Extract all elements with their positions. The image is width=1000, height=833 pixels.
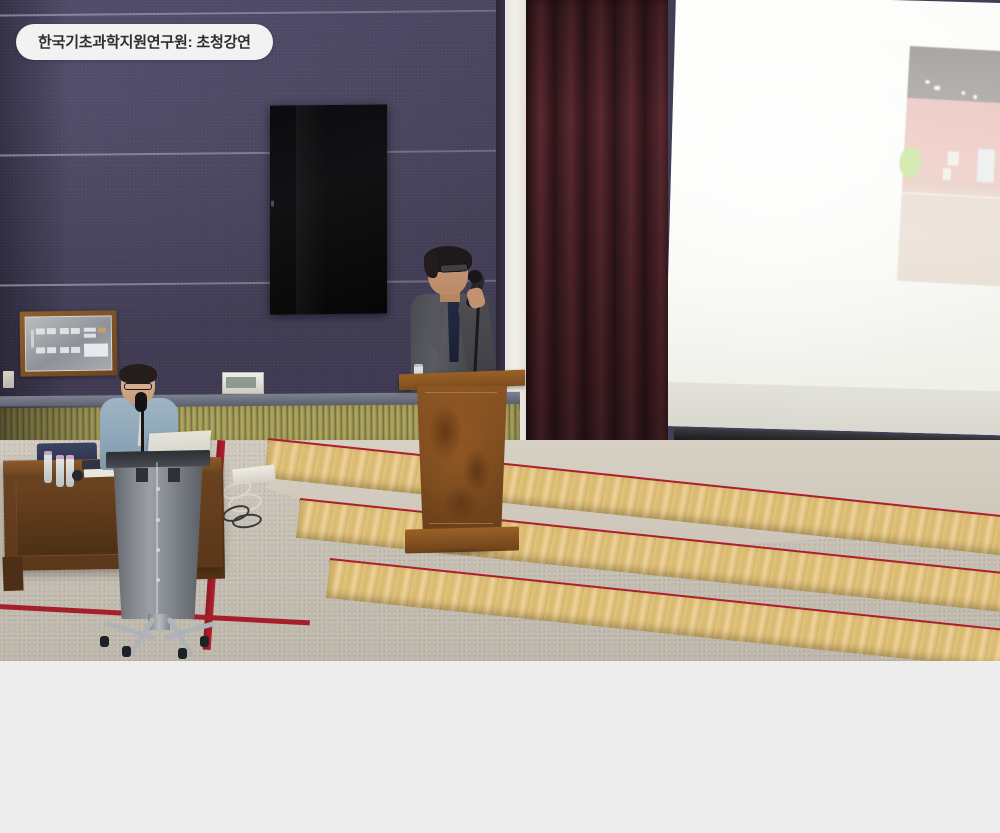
page-blank-area	[0, 661, 1000, 833]
slide-ceiling-light	[973, 94, 977, 99]
moderator-glasses	[124, 383, 152, 390]
mobile-lectern-top	[106, 450, 210, 468]
stage-curtain	[526, 0, 668, 460]
panel-switch	[84, 328, 96, 332]
screen-lower-band	[668, 382, 1000, 435]
wood-framed-control-panel	[20, 310, 118, 376]
wall-light-switch	[3, 371, 14, 388]
gooseneck-microphone-head	[135, 392, 147, 412]
mobile-lectern-stud	[156, 487, 160, 491]
lectern-caster-wheel	[200, 636, 209, 647]
water-bottle	[44, 451, 52, 483]
panel-switch	[60, 347, 69, 353]
panel-switch	[47, 328, 56, 334]
panel-display-window	[84, 343, 108, 356]
page-root: 한국기초과학지원연구원: 초청강연	[0, 0, 1000, 833]
lectern-caster-wheel	[100, 636, 109, 647]
mobile-lectern-stud	[156, 518, 160, 522]
slide-ceiling-light	[925, 80, 930, 84]
panel-switch	[47, 347, 56, 353]
slide-artwork	[977, 149, 996, 183]
mobile-lectern-seam	[156, 462, 158, 618]
caption-badge[interactable]: 한국기초과학지원연구원: 초청강연	[16, 24, 273, 60]
panel-switch	[71, 347, 80, 353]
slide-green-shape	[899, 147, 921, 179]
head-table-leg	[2, 556, 23, 591]
caption-badge-label: 한국기초과학지원연구원: 초청강연	[38, 35, 251, 50]
projection-screen	[668, 0, 1000, 435]
presenter-hair-side	[424, 252, 438, 278]
presenter-glasses	[440, 263, 468, 272]
podium-burl-panel	[421, 392, 501, 524]
panel-indicator	[98, 327, 106, 332]
lecture-photo: 한국기초과학지원연구원: 초청강연	[0, 0, 1000, 661]
slide-artwork	[942, 168, 951, 180]
panel-switch	[71, 328, 80, 334]
panel-switch	[36, 347, 45, 353]
gallery-photo-slide	[897, 46, 1000, 287]
panel-switch	[60, 328, 69, 334]
slide-ceiling	[907, 46, 1000, 104]
mobile-lectern-tab	[168, 468, 180, 482]
lectern-caster-wheel	[178, 648, 187, 659]
projection-screen-area	[668, 0, 1000, 454]
microphone-head-icon	[468, 270, 482, 283]
wall-seam-line	[0, 149, 530, 156]
mobile-lectern-body	[110, 455, 206, 619]
wall-seam-line	[0, 9, 530, 16]
display-indicator-icon	[271, 201, 274, 207]
mobile-lectern-stud	[156, 548, 160, 552]
podium-shadow	[399, 546, 527, 558]
lectern-caster-wheel	[122, 646, 131, 657]
slide-artwork	[948, 152, 960, 167]
mobile-lectern-stud	[156, 578, 160, 582]
panel-strip	[31, 329, 34, 347]
table-knob	[72, 470, 83, 481]
mobile-lectern-tab	[136, 468, 148, 482]
wall-equipment-box-window	[226, 377, 256, 388]
panel-switch	[84, 334, 96, 338]
panel-switch	[36, 328, 45, 334]
moderator-hair	[119, 364, 157, 384]
wall-mounted-flat-panel	[270, 104, 387, 314]
water-bottle	[56, 455, 64, 487]
slide-floor-line	[902, 191, 1000, 200]
control-panel-face	[25, 315, 113, 371]
